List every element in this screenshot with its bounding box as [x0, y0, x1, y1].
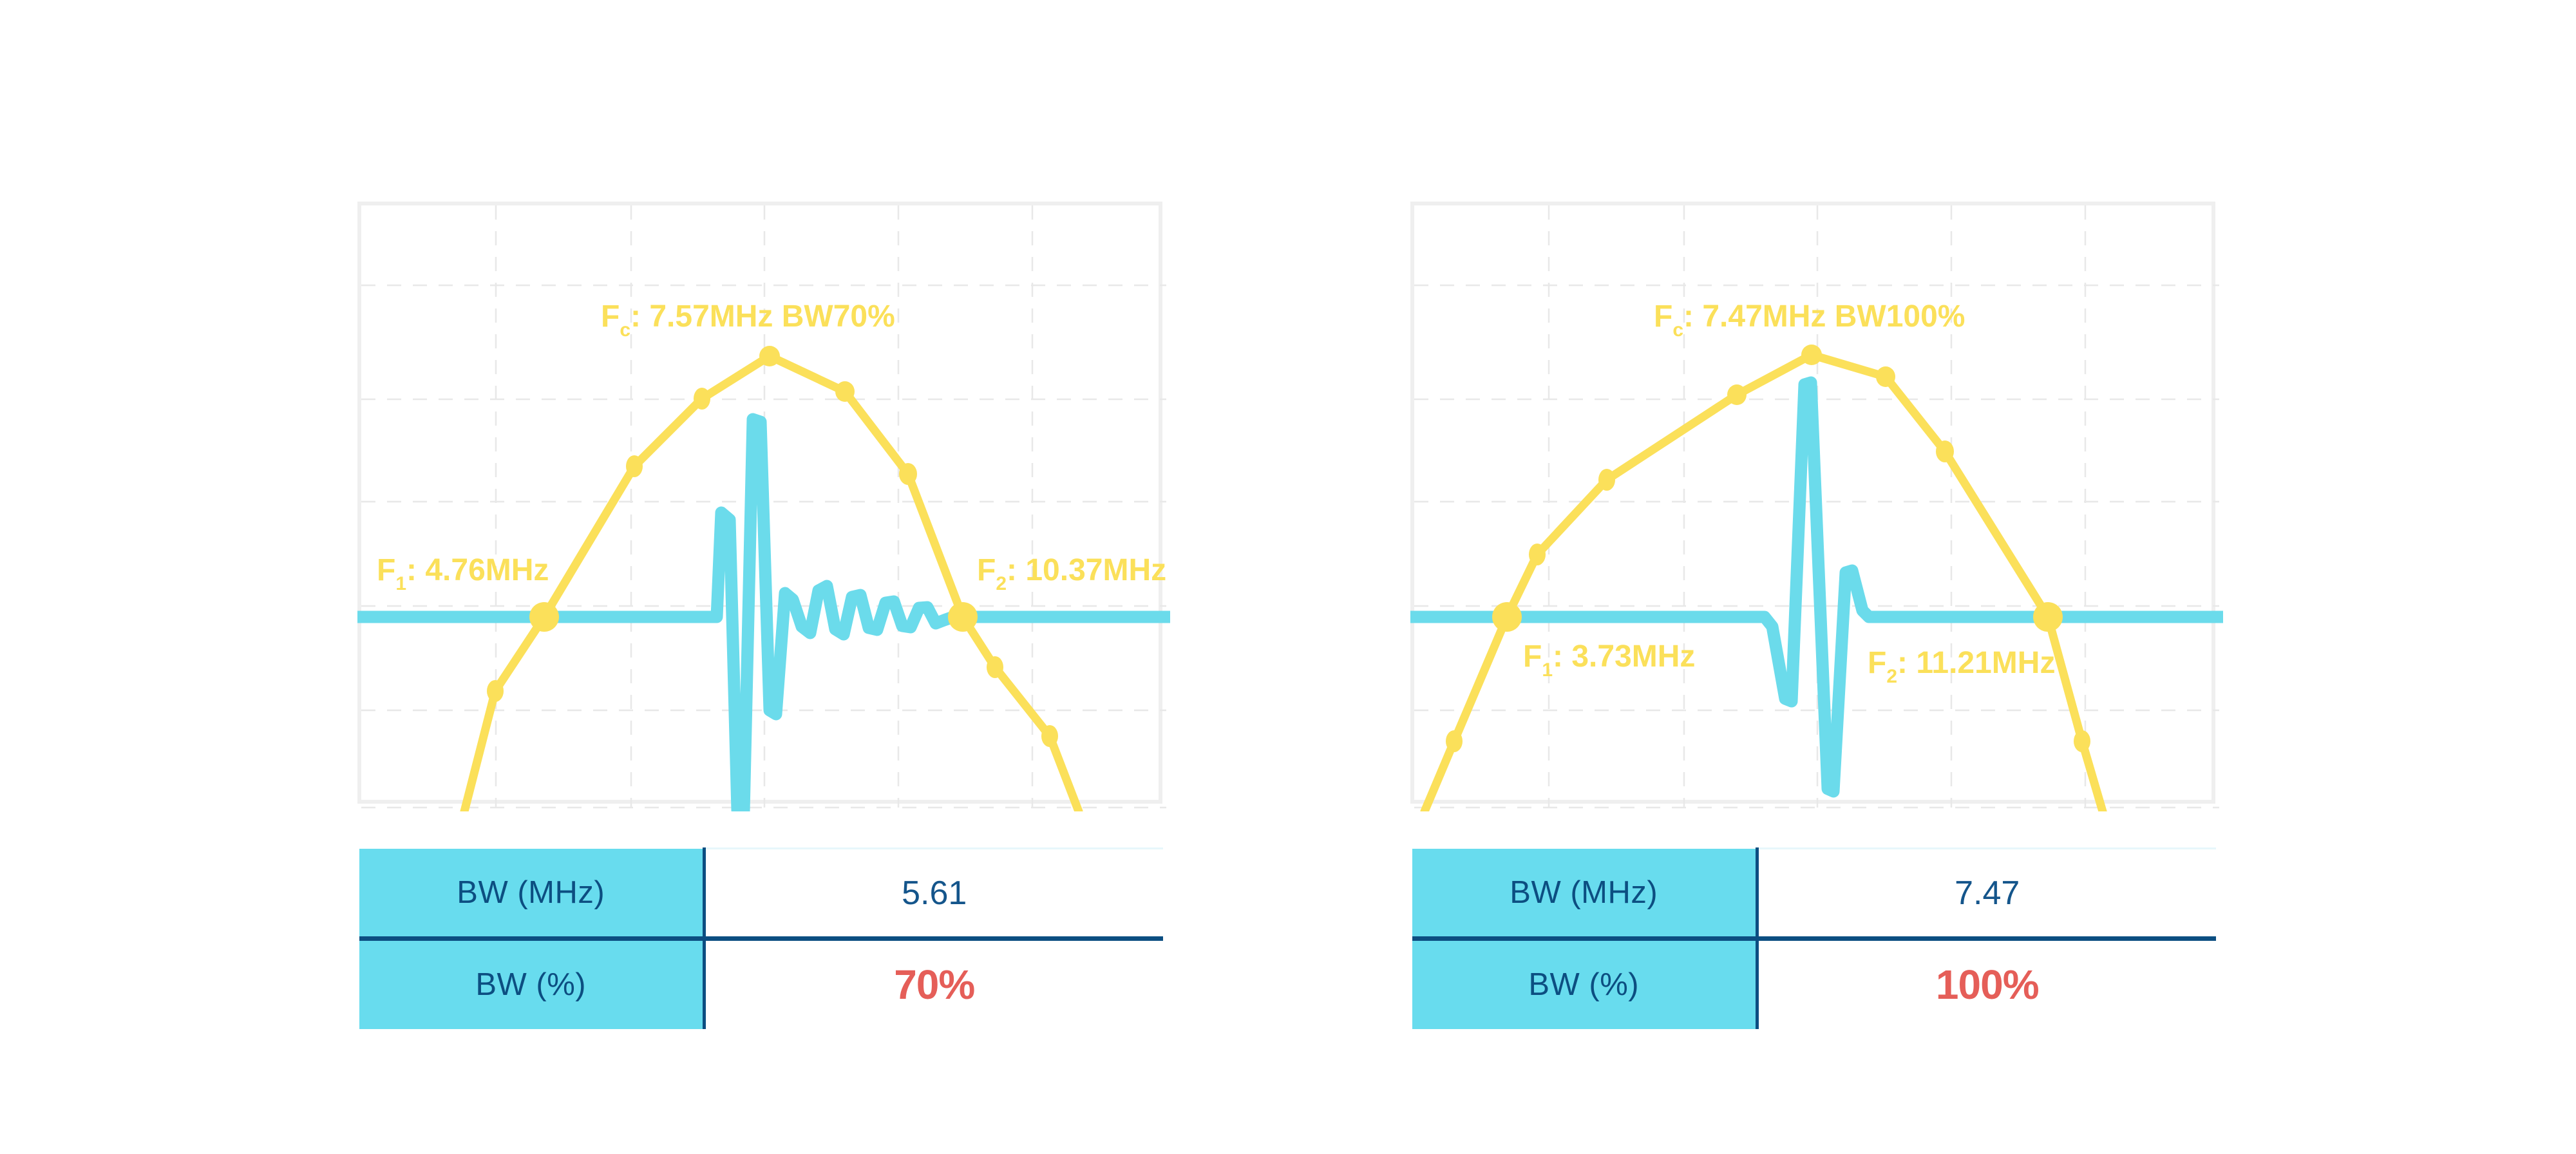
spectrum-trace-right	[1425, 355, 2128, 811]
annotation-f2-left: F2: 10.37MHz	[977, 553, 1166, 594]
bw-table-left: BW (MHz) 5.61 BW (%) 70%	[359, 847, 1163, 1029]
table-row: BW (%) 70%	[359, 939, 1163, 1029]
bw-mhz-label: BW (MHz)	[1412, 849, 1757, 939]
table-row: BW (MHz) 5.61	[359, 849, 1163, 939]
chart-frame-right: Fc: 7.47MHz BW100% F1: 3.73MHz F2: 11.21…	[1410, 202, 2215, 804]
annotation-f2-right: F2: 11.21MHz	[1868, 646, 2055, 687]
table-row: BW (MHz) 7.47	[1412, 849, 2216, 939]
bw-percent-value: 70%	[704, 939, 1163, 1029]
table-row: BW (%) 100%	[1412, 939, 2216, 1029]
bw-mhz-value: 7.47	[1757, 849, 2216, 939]
bw-table-right: BW (MHz) 7.47 BW (%) 100%	[1412, 847, 2216, 1029]
annotation-f1-left: F1: 4.76MHz	[377, 553, 549, 594]
panel-right: Fc: 7.47MHz BW100% F1: 3.73MHz F2: 11.21…	[1410, 202, 2215, 804]
annotation-fc-right: Fc: 7.47MHz BW100%	[1654, 299, 1965, 341]
chart-frame-left: Fc: 7.57MHz BW70% F1: 4.76MHz F2: 10.37M…	[357, 202, 1162, 804]
bw-percent-value: 100%	[1757, 939, 2216, 1029]
bw-percent-label: BW (%)	[359, 939, 704, 1029]
bw-percent-label: BW (%)	[1412, 939, 1757, 1029]
charts-container: Fc: 7.57MHz BW70% F1: 4.76MHz F2: 10.37M…	[0, 0, 2576, 1154]
bw-mhz-value: 5.61	[704, 849, 1163, 939]
bw-mhz-label: BW (MHz)	[359, 849, 704, 939]
annotation-fc-left: Fc: 7.57MHz BW70%	[601, 299, 895, 341]
panel-left: Fc: 7.57MHz BW70% F1: 4.76MHz F2: 10.37M…	[357, 202, 1162, 804]
